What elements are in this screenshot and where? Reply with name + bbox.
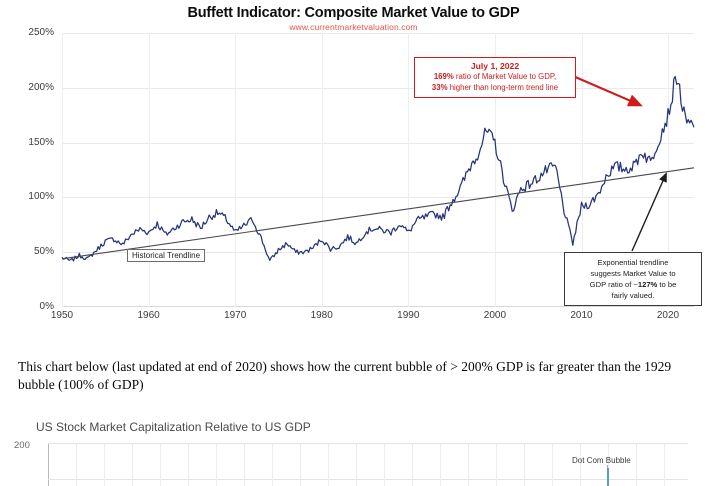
bottom-gridline-v-9: [300, 443, 301, 486]
bottom-gridline-v-14: [440, 443, 441, 486]
red-callout-text-2: higher than long-term trend line: [448, 83, 559, 92]
historical-trendline-label: Historical Trendline: [127, 249, 205, 262]
bottom-gridline-v-15: [468, 443, 469, 486]
bottom-gridline-v-17: [524, 443, 525, 486]
buffett-indicator-chart: Buffett Indicator: Composite Market Valu…: [0, 0, 707, 340]
red-callout-value-169: 169%: [434, 72, 454, 81]
bottom-gridline-v-2: [104, 443, 105, 486]
x-axis-labels: 1950 1960 1970 1980 1990 2000 2010 2020: [62, 310, 694, 326]
bottom-gridline-v-1: [76, 443, 77, 486]
bottom-gridline-v-13: [412, 443, 413, 486]
dotcom-marker-line: [607, 468, 609, 486]
bottom-gridline-v-8: [272, 443, 273, 486]
black-callout-post: to be: [657, 280, 676, 289]
x-tick-1970: 1970: [224, 310, 246, 321]
bottom-gridline-v-18: [552, 443, 553, 486]
bottom-gridline-lower: [48, 479, 688, 480]
bottom-gridline-v-4: [160, 443, 161, 486]
dotcom-bubble-label: Dot Com Bubble: [572, 456, 631, 465]
y-tick-200: 200%: [6, 82, 54, 93]
bottom-gridline-v-22: [664, 443, 665, 486]
y-tick-0: 0%: [6, 301, 54, 312]
red-callout-text-1: ratio of Market Value to GDP,: [454, 72, 556, 81]
black-callout-line-4: fairly valued.: [568, 290, 698, 301]
bottom-gridline-v-7: [244, 443, 245, 486]
bottom-gridline-v-5: [188, 443, 189, 486]
black-callout-value-127: 127%: [638, 280, 657, 289]
slide-body-paragraph: This chart below (last updated at end of…: [18, 358, 678, 394]
black-callout-line-1: Exponential trendline: [568, 257, 698, 268]
y-axis-labels: 250% 200% 150% 100% 50% 0%: [6, 33, 54, 307]
red-annotation-callout: July 1, 2022 169% ratio of Market Value …: [414, 57, 576, 98]
market-value-to-gdp-line: [62, 77, 694, 261]
us-market-cap-chart: US Stock Market Capitalization Relative …: [0, 418, 707, 486]
x-tick-2020: 2020: [657, 310, 679, 321]
red-callout-title: July 1, 2022: [419, 61, 571, 72]
red-callout-value-33: 33%: [432, 83, 448, 92]
red-callout-line-2: 33% higher than long-term trend line: [419, 83, 571, 93]
chart-title: Buffett Indicator: Composite Market Valu…: [0, 5, 707, 21]
x-tick-1950: 1950: [51, 310, 73, 321]
bottom-chart-title: US Stock Market Capitalization Relative …: [36, 420, 311, 434]
bottom-gridline-v-6: [216, 443, 217, 486]
bottom-gridline-v-16: [496, 443, 497, 486]
red-callout-line-1: 169% ratio of Market Value to GDP,: [419, 72, 571, 82]
black-callout-line-2: suggests Market Value to: [568, 268, 698, 279]
x-tick-1980: 1980: [311, 310, 333, 321]
black-callout-line-3: GDP ratio of ~127% to be: [568, 279, 698, 290]
x-tick-2000: 2000: [484, 310, 506, 321]
y-tick-250: 250%: [6, 27, 54, 38]
x-tick-1960: 1960: [137, 310, 159, 321]
slide-canvas: Buffett Indicator: Composite Market Valu…: [0, 0, 707, 486]
y-tick-50: 50%: [6, 246, 54, 257]
chart-subtitle-url: www.currentmarketvaluation.com: [0, 22, 707, 32]
y-tick-100: 100%: [6, 191, 54, 202]
bottom-gridline-v-21: [636, 443, 637, 486]
black-callout-pre: GDP ratio of ~: [590, 280, 638, 289]
historical-trendline: [62, 168, 694, 259]
bottom-gridline-v-10: [328, 443, 329, 486]
x-tick-1990: 1990: [397, 310, 419, 321]
y-tick-150: 150%: [6, 137, 54, 148]
bottom-gridline-v-11: [356, 443, 357, 486]
bottom-gridline-top: [48, 443, 688, 444]
bottom-gridline-v-3: [132, 443, 133, 486]
bottom-y-tick-200: 200: [14, 440, 30, 451]
black-annotation-callout: Exponential trendline suggests Market Va…: [564, 252, 702, 306]
x-tick-2010: 2010: [570, 310, 592, 321]
bottom-gridline-v-12: [384, 443, 385, 486]
